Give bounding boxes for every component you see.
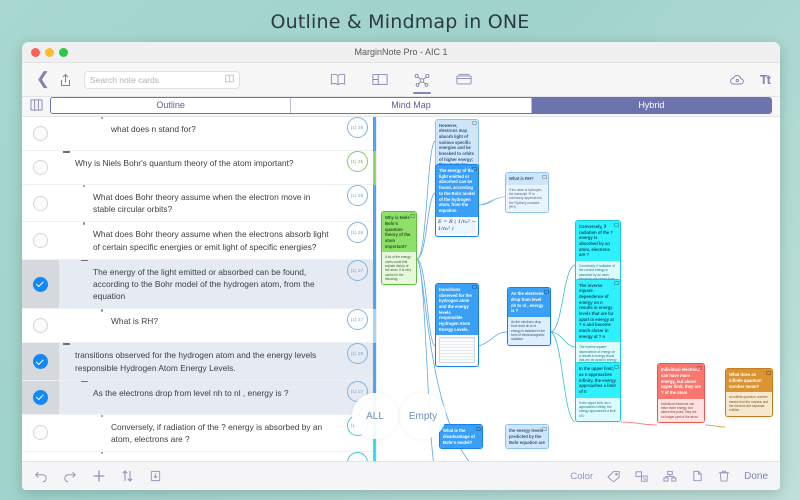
checkbox-checked-icon[interactable] [33, 277, 48, 292]
mindmap-card[interactable]: Individual electrons can have more energ… [657, 363, 705, 423]
page-badge[interactable]: (1) 27 [347, 452, 368, 461]
outline-row-checkbox[interactable] [22, 117, 59, 150]
tab-mindmap[interactable]: Mind Map [291, 98, 531, 113]
mindmap-card[interactable]: the energy levels predicted by the Bohr … [505, 424, 549, 449]
outline-row-text: As the electrons drop from level nh to n… [91, 381, 338, 405]
page-badge[interactable]: (1) 27 [347, 309, 368, 330]
spine-segment [373, 222, 376, 259]
outline-row-checkbox[interactable] [22, 260, 59, 309]
mindmap-card[interactable]: As the electrons drop from level nh to n… [507, 287, 551, 345]
view-segmented-control: Outline Mind Map Hybrid [50, 97, 772, 114]
page-title: Outline & Mindmap in ONE [271, 11, 530, 33]
mindmap-card[interactable]: The energy of the light emitted or absor… [435, 164, 479, 236]
outline-row-text: what does n stand for? [109, 117, 338, 141]
mindmap-card-title: transitions observed for the hydrogen at… [436, 284, 478, 335]
checkbox-checked-icon[interactable] [33, 390, 48, 405]
window-title: MarginNote Pro - AIC 1 [22, 47, 780, 57]
mindmap-card[interactable]: transitions observed for the hydrogen at… [435, 283, 479, 367]
bottom-right-actions: Color [570, 469, 768, 483]
back-chevron-icon[interactable]: ❮ [32, 69, 54, 91]
card-collapse-icon[interactable] [472, 167, 477, 171]
page-banner: Outline & Mindmap in ONE [0, 0, 800, 44]
outline-row-checkbox[interactable] [22, 381, 59, 414]
page-badge[interactable]: (1) 28 [347, 343, 368, 364]
bullet-glyph [81, 381, 88, 383]
export-icon[interactable] [149, 469, 162, 483]
outline-row[interactable]: What does Bohr theory assume when the el… [22, 222, 376, 259]
outline-page-badge-wrap: (1) 27 [338, 260, 376, 281]
outline-row-checkbox[interactable] [22, 309, 59, 342]
add-icon[interactable] [92, 469, 106, 483]
bottom-left-actions [34, 469, 162, 483]
outline-page-badge-wrap: (1) 26 [338, 151, 376, 172]
duplicate-icon[interactable] [691, 470, 704, 483]
bullet-glyph [101, 415, 103, 417]
trash-icon[interactable] [718, 469, 730, 483]
main-content: what does n stand for?(1) 26Why is Niels… [22, 117, 780, 461]
outline-page-badge-wrap: (1) 27 [338, 309, 376, 330]
checkbox-empty-icon[interactable] [33, 196, 48, 211]
bullet-glyph [63, 343, 70, 345]
card-collapse-icon[interactable] [614, 365, 619, 369]
bullet-dot-icon [95, 117, 109, 119]
mindmap-card-title: Why is Niels Bohr's quantum theory of th… [382, 212, 416, 252]
card-collapse-icon[interactable] [542, 427, 547, 431]
card-collapse-icon[interactable] [472, 121, 477, 125]
split-view-icon[interactable] [368, 68, 392, 92]
checkbox-checked-icon[interactable] [33, 354, 48, 369]
mindmap-card[interactable]: In the upper limit, as n approaches infi… [575, 362, 621, 422]
mindmap-card-body: Individual electrons can have more energ… [658, 399, 704, 422]
search-placeholder: Search note cards [90, 75, 225, 85]
outline-row-text: Conversely, if radiation of the ? energy… [109, 415, 338, 451]
outline-row[interactable]: The energy of the light emitted or absor… [22, 260, 376, 310]
outline-row-checkbox[interactable] [22, 222, 59, 258]
bullet-glyph [83, 185, 85, 187]
outline-row-checkbox[interactable] [22, 452, 59, 461]
toolbar-right: Tt [726, 69, 770, 91]
mindmap-card-body: As the electrons drop from level nh to n… [508, 317, 550, 345]
spine-segment [373, 151, 376, 185]
outline-row-text: Why is Niels Bohr's quantum theory of th… [73, 151, 338, 175]
tag-icon[interactable] [607, 470, 621, 483]
mindmap-card-title: The inverse square dependence of energy … [576, 280, 620, 343]
outline-filter-group: ALL Empty [352, 393, 446, 439]
outline-page-badge-wrap: (1) 27 [338, 452, 376, 461]
bullet-glyph [63, 151, 70, 153]
mindmap-card[interactable]: What is RH?If the atom is hydrogen, the … [505, 172, 549, 213]
bullet-dot-icon [77, 222, 91, 224]
outline-page-badge-wrap: (1) 26 [338, 185, 376, 206]
card-collapse-icon[interactable] [410, 214, 415, 218]
spine-segment [373, 185, 376, 222]
card-collapse-icon[interactable] [614, 223, 619, 227]
tab-hybrid[interactable]: Hybrid [532, 98, 771, 113]
bullet-dot-icon [95, 452, 109, 454]
hierarchy-icon[interactable] [663, 470, 677, 483]
mindmap-card-body: In the upper limit, as n approaches infi… [576, 398, 620, 421]
card-collapse-icon[interactable] [476, 427, 481, 431]
page-badge[interactable]: (1) 27 [347, 260, 368, 281]
collapse-dash-icon[interactable] [59, 151, 73, 153]
outline-page-badge-wrap: (1) 26 [338, 117, 376, 138]
app-window: MarginNote Pro - AIC 1 ❮ Search note car… [22, 42, 780, 490]
outline-row[interactable]: What does Bohr theory assume when the el… [22, 185, 376, 222]
page-badge[interactable]: (1) 26 [347, 185, 368, 206]
bullet-dot-icon [77, 185, 91, 187]
mindmap-card-title: Conversely, if radiation of the ? energy… [576, 221, 620, 261]
mindmap-card-title: The energy of the light emitted or absor… [436, 165, 478, 216]
outline-row[interactable]: what does n stand for?(1) 26 [22, 117, 376, 151]
color-label[interactable]: Color [570, 471, 593, 482]
bullet-glyph [101, 117, 103, 119]
spine-segment [373, 259, 376, 309]
undo-icon[interactable] [34, 470, 48, 483]
done-button[interactable]: Done [744, 471, 768, 482]
page-badge[interactable]: (1) 26 [347, 117, 368, 138]
outline-row-text: What does Bohr theory assume when the el… [91, 185, 338, 221]
mindmap-icon[interactable] [410, 68, 434, 92]
grid-toggle-icon[interactable] [28, 98, 44, 112]
share-icon[interactable] [54, 69, 76, 91]
outline-row-text: The inverse square dependence of energy … [109, 452, 338, 461]
outline-page-badge-wrap: (1) 28 [338, 343, 376, 364]
outline-row-text: The energy of the light emitted or absor… [91, 260, 338, 309]
outline-row-text: What does Bohr theory assume when the el… [91, 222, 338, 258]
card-collapse-icon[interactable] [766, 371, 771, 375]
view-tabbar: Outline Mind Map Hybrid [22, 97, 780, 117]
outline-row-checkbox[interactable] [22, 185, 59, 221]
main-toolbar: ❮ Search note cards [22, 63, 780, 97]
bullet-glyph [83, 222, 85, 224]
tab-outline[interactable]: Outline [51, 98, 291, 113]
outline-row[interactable]: What is RH?(1) 27 [22, 309, 376, 343]
spine-segment [373, 451, 376, 461]
merge-cards-icon[interactable] [635, 470, 649, 483]
outline-row-text: transitions observed for the hydrogen at… [73, 343, 338, 379]
mindmap-card[interactable]: Why is Niels Bohr's quantum theory of th… [381, 211, 417, 285]
mindmap-card-body: an infinite quantum number means that th… [726, 392, 772, 415]
bullet-glyph [101, 452, 103, 454]
mindmap-card-body: If the atom is hydrogen, the subscript '… [506, 185, 548, 213]
outline-pane[interactable]: what does n stand for?(1) 26Why is Niels… [22, 117, 377, 461]
card-equation: E = R ( 1/n₁² − 1/n₂² ) [438, 219, 476, 234]
card-view-icon[interactable] [452, 68, 476, 92]
search-input[interactable]: Search note cards [84, 71, 240, 89]
checkbox-empty-icon[interactable] [33, 126, 48, 141]
spine-segment [373, 309, 376, 343]
bottom-toolbar: Color [22, 461, 780, 490]
outline-row[interactable]: Conversely, if radiation of the ? energy… [22, 415, 376, 452]
book-icon[interactable] [225, 74, 234, 85]
bullet-glyph [81, 260, 88, 262]
outline-list: what does n stand for?(1) 26Why is Niels… [22, 117, 376, 461]
outline-row-checkbox[interactable] [22, 415, 59, 451]
page-badge[interactable]: (1) 26 [347, 151, 368, 172]
card-collapse-icon[interactable] [542, 175, 547, 179]
collapse-dash-icon[interactable] [59, 343, 73, 345]
cloud-sync-icon[interactable] [726, 69, 748, 91]
outline-row-checkbox[interactable] [22, 151, 59, 184]
sort-icon[interactable] [121, 469, 134, 483]
spine-segment [373, 343, 376, 380]
spine-segment [373, 117, 376, 151]
redo-icon[interactable] [63, 470, 77, 483]
mindmap-card[interactable]: What does an infinite quantum number mea… [725, 368, 773, 416]
card-collapse-icon[interactable] [614, 281, 619, 285]
window-titlebar: MarginNote Pro - AIC 1 [22, 42, 780, 63]
outline-row-text: What is RH? [109, 309, 338, 333]
library-book-icon[interactable] [326, 68, 350, 92]
bullet-dot-icon [95, 415, 109, 417]
collapse-dash-icon[interactable] [77, 381, 91, 383]
outline-page-badge-wrap: (1) 26 [338, 222, 376, 243]
card-collapse-icon[interactable] [472, 285, 477, 289]
text-format-icon[interactable]: Tt [760, 72, 770, 87]
checkbox-empty-icon[interactable] [33, 425, 48, 440]
card-thumbnail [439, 337, 475, 363]
bullet-dot-icon [95, 309, 109, 311]
outline-row-checkbox[interactable] [22, 343, 59, 379]
collapse-dash-icon[interactable] [77, 260, 91, 262]
outline-row[interactable]: Why is Niels Bohr's quantum theory of th… [22, 151, 376, 185]
mindmap-card-body: A lot of the energy cores could first ex… [382, 252, 416, 284]
outline-row[interactable]: As the electrons drop from level nh to n… [22, 381, 376, 415]
checkbox-empty-icon[interactable] [33, 233, 48, 248]
filter-empty-button[interactable]: Empty [400, 393, 446, 439]
card-collapse-icon[interactable] [544, 290, 549, 294]
checkbox-empty-icon[interactable] [33, 318, 48, 333]
card-collapse-icon[interactable] [697, 366, 702, 370]
checkbox-empty-icon[interactable] [33, 160, 48, 175]
outline-row[interactable]: transitions observed for the hydrogen at… [22, 343, 376, 380]
page-badge[interactable]: (1) 26 [347, 222, 368, 243]
bullet-glyph [101, 309, 103, 311]
outline-row[interactable]: The inverse square dependence of energy … [22, 452, 376, 461]
filter-all-button[interactable]: ALL [352, 393, 398, 439]
